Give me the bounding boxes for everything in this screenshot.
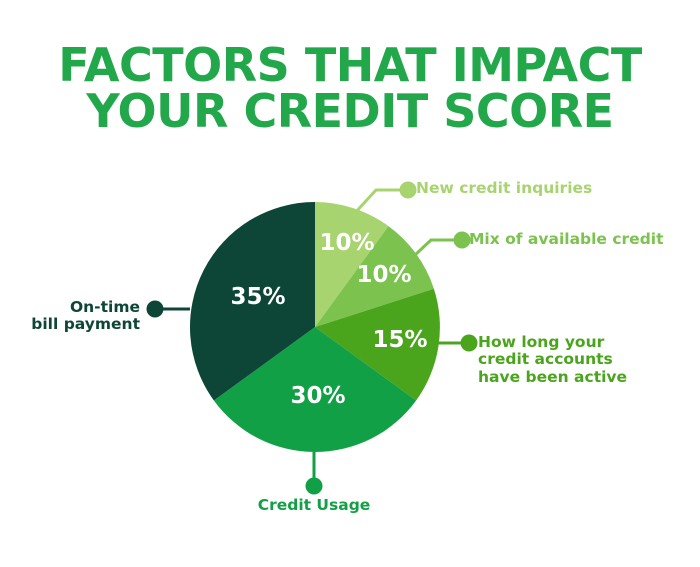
callout-label-credit-age[interactable]: How long your credit accounts have been … xyxy=(478,334,627,386)
callout-label-mix-available-credit[interactable]: Mix of available credit xyxy=(469,231,664,248)
leader-line-mix-available-credit xyxy=(415,240,458,255)
pie-value-credit-usage: 30% xyxy=(290,383,345,409)
dot-new-credit-inquiries xyxy=(400,182,417,199)
dot-mix-available-credit xyxy=(454,232,471,249)
pie-value-on-time-payment: 35% xyxy=(230,284,285,310)
dot-credit-usage xyxy=(306,478,323,495)
pie-chart: 10% 10% 15% 30% 35% xyxy=(0,0,700,567)
infographic-canvas: FACTORS THAT IMPACT YOUR CREDIT SCORE xyxy=(0,0,700,567)
dot-on-time-payment xyxy=(147,301,164,318)
callout-label-credit-usage[interactable]: Credit Usage xyxy=(204,497,424,514)
callout-label-on-time-payment[interactable]: On-time bill payment xyxy=(0,299,140,334)
leader-line-new-credit-inquiries xyxy=(354,190,404,214)
callout-label-new-credit-inquiries[interactable]: New credit inquiries xyxy=(416,180,592,197)
pie-value-new-credit-inquiries: 10% xyxy=(319,230,374,256)
dot-credit-age xyxy=(461,335,478,352)
pie-value-credit-age: 15% xyxy=(372,327,427,353)
pie-value-mix-available-credit: 10% xyxy=(356,262,411,288)
